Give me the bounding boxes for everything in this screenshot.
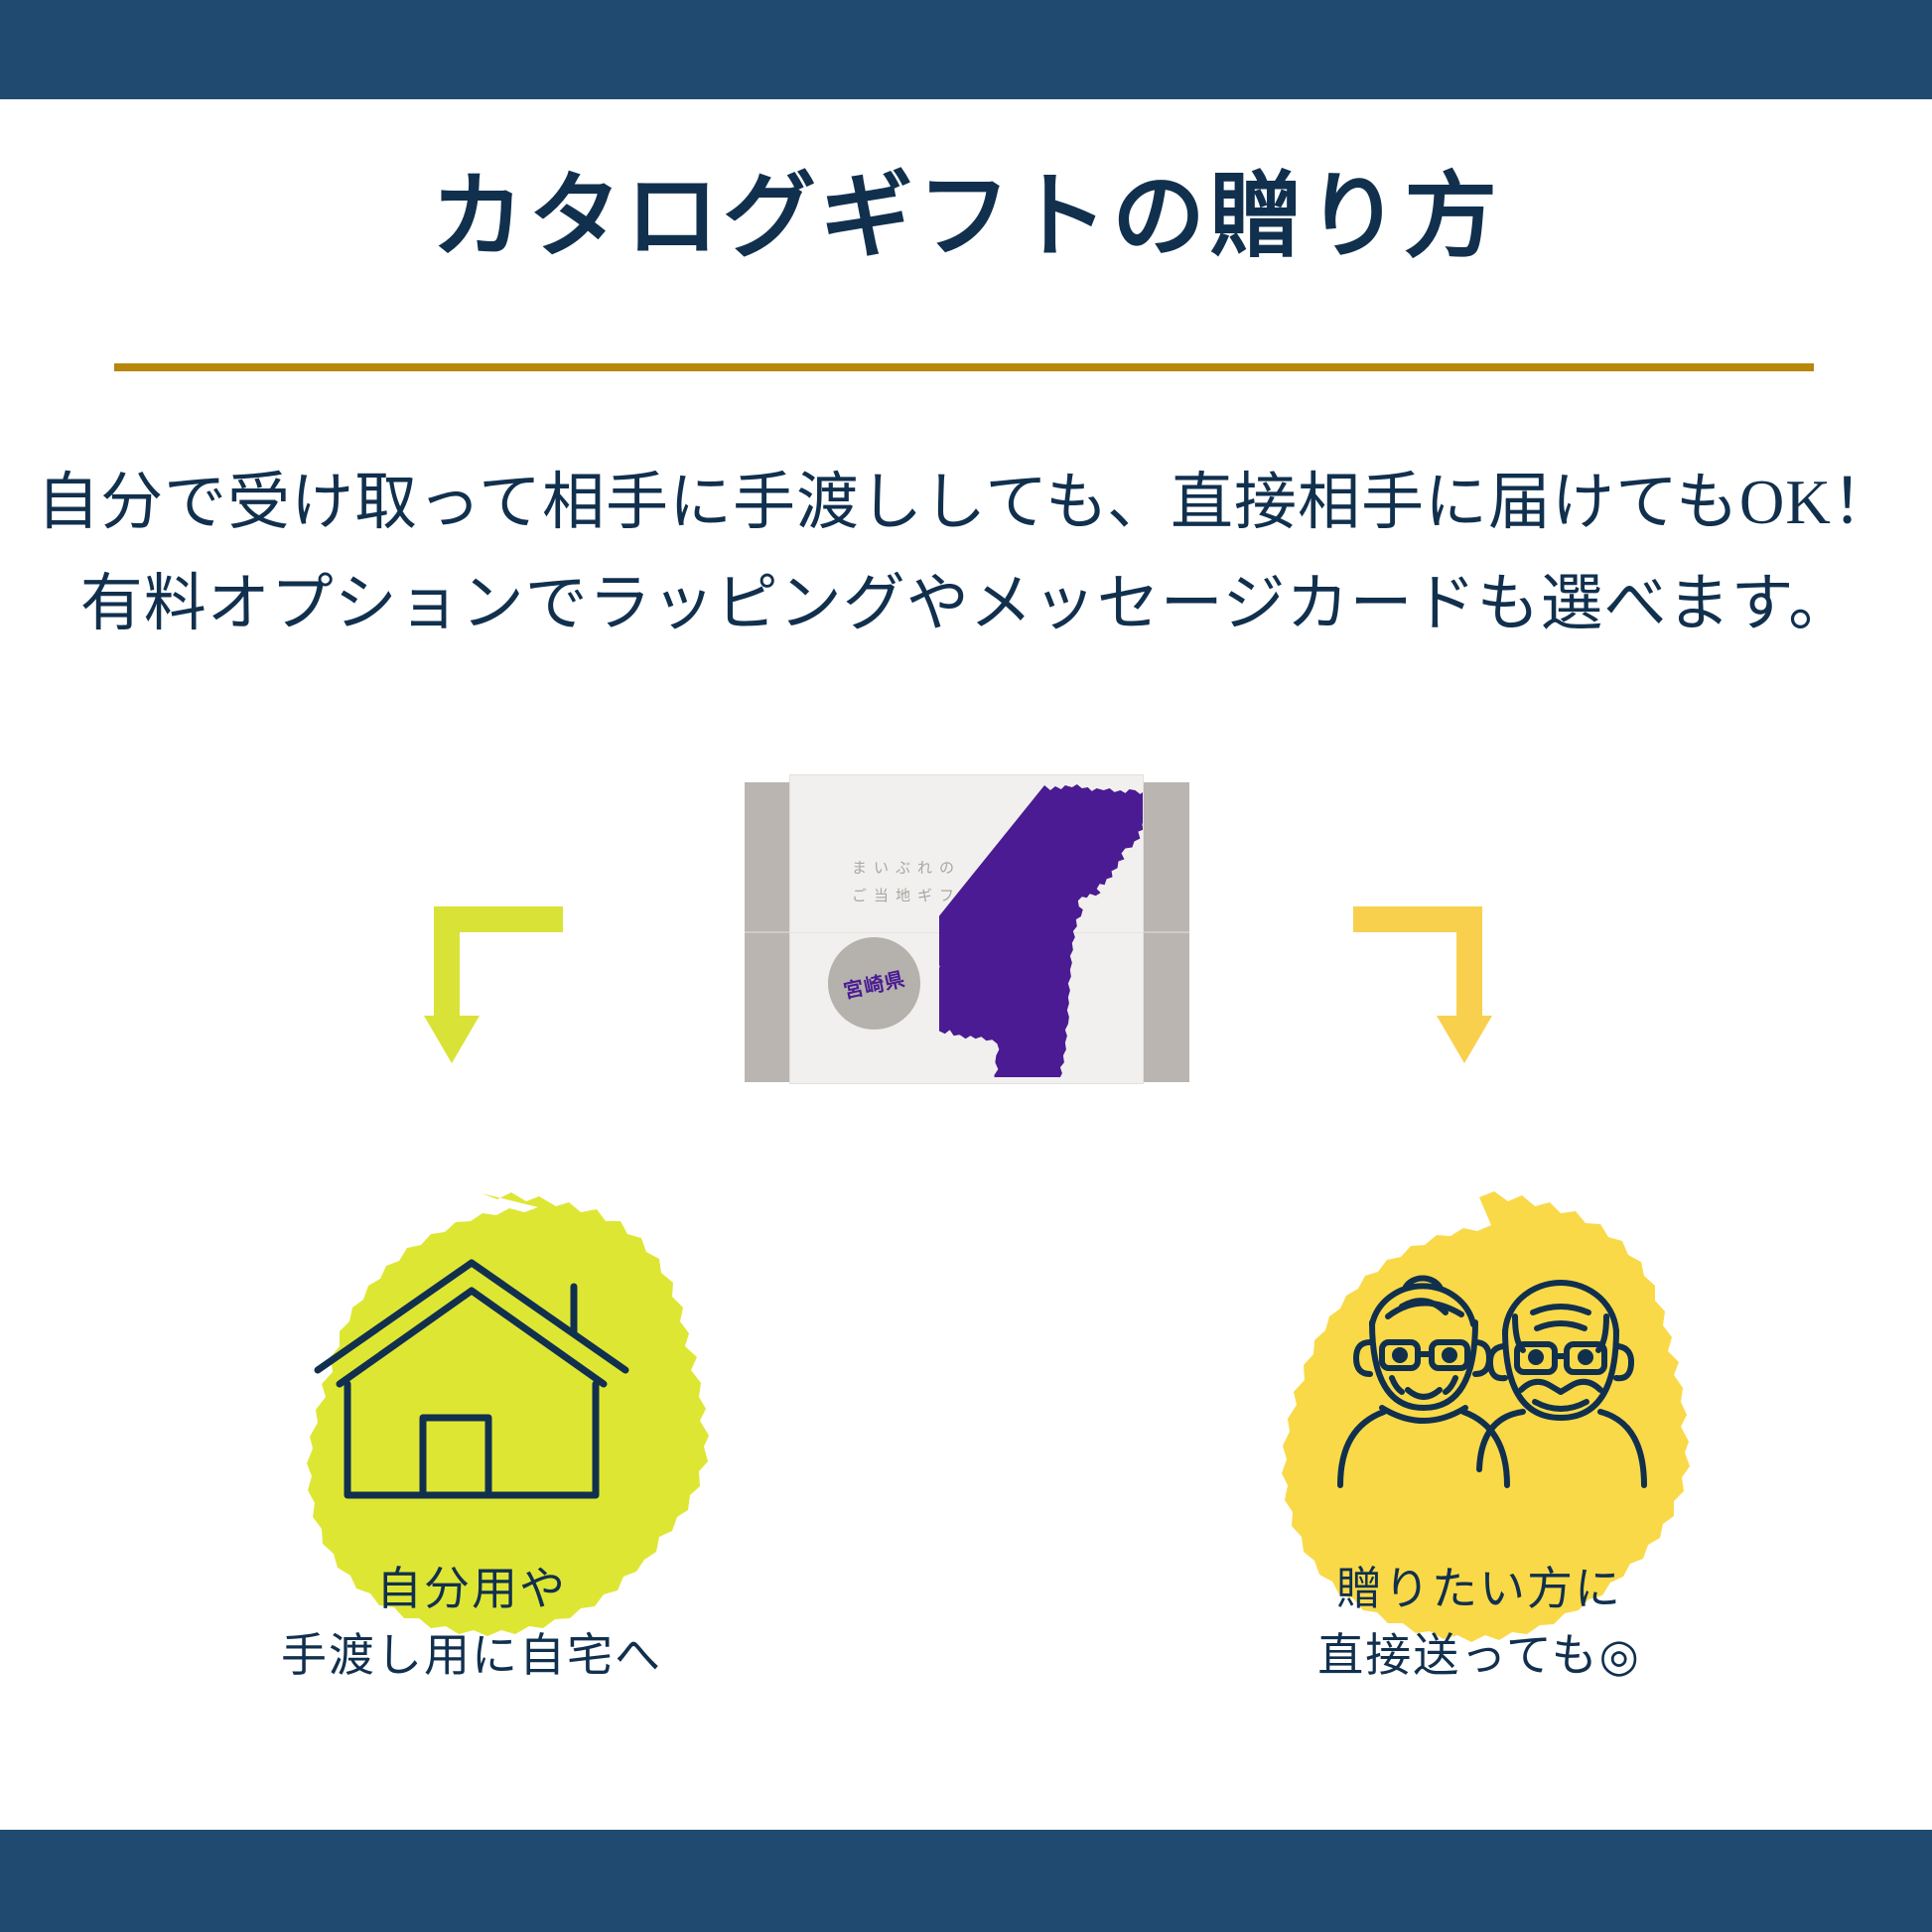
option-self-card: 自分用や 手渡し用に自宅へ [184,1170,759,1745]
lead-line-2: 有料オプションでラッピングやメッセージカードも選べます。 [0,553,1932,654]
gift-box-illustration: まいぶれの ご当地ギフト 宮崎県 [745,782,1189,1082]
option-recipient-caption-line-1: 贈りたい方に [1191,1557,1767,1623]
option-recipient-caption: 贈りたい方に 直接送っても◎ [1191,1557,1767,1689]
option-self-caption-line-2: 手渡し用に自宅へ [184,1623,759,1690]
arrow-to-recipient-icon [1330,898,1494,1067]
page-title: カタログギフトの贈り方 [0,167,1932,269]
option-self-caption: 自分用や 手渡し用に自宅へ [184,1557,759,1689]
miyazaki-prefecture-map-icon [939,781,1144,1077]
prefecture-badge: 宮崎県 [828,937,920,1030]
option-recipient-card: 贈りたい方に 直接送っても◎ [1191,1170,1767,1745]
infographic-page: カタログギフトの贈り方 自分で受け取って相手に手渡ししても、直接相手に届けてもO… [0,0,1932,1932]
elderly-couple-icon [1311,1251,1648,1509]
option-self-caption-line-1: 自分用や [184,1557,759,1623]
top-navy-bar [0,0,1932,99]
lead-line-1: 自分で受け取って相手に手渡ししても、直接相手に届けてもOK！ [0,452,1932,553]
option-recipient-caption-line-2: 直接送っても◎ [1191,1623,1767,1690]
gold-divider [114,363,1814,371]
arrow-to-home-icon [422,898,586,1067]
bottom-navy-bar [0,1830,1932,1932]
prefecture-badge-label: 宮崎県 [841,963,908,1004]
house-icon [308,1251,635,1509]
gift-box-lid: まいぶれの ご当地ギフト 宮崎県 [789,774,1144,1084]
lead-paragraph: 自分で受け取って相手に手渡ししても、直接相手に届けてもOK！ 有料オプションでラ… [0,452,1932,654]
